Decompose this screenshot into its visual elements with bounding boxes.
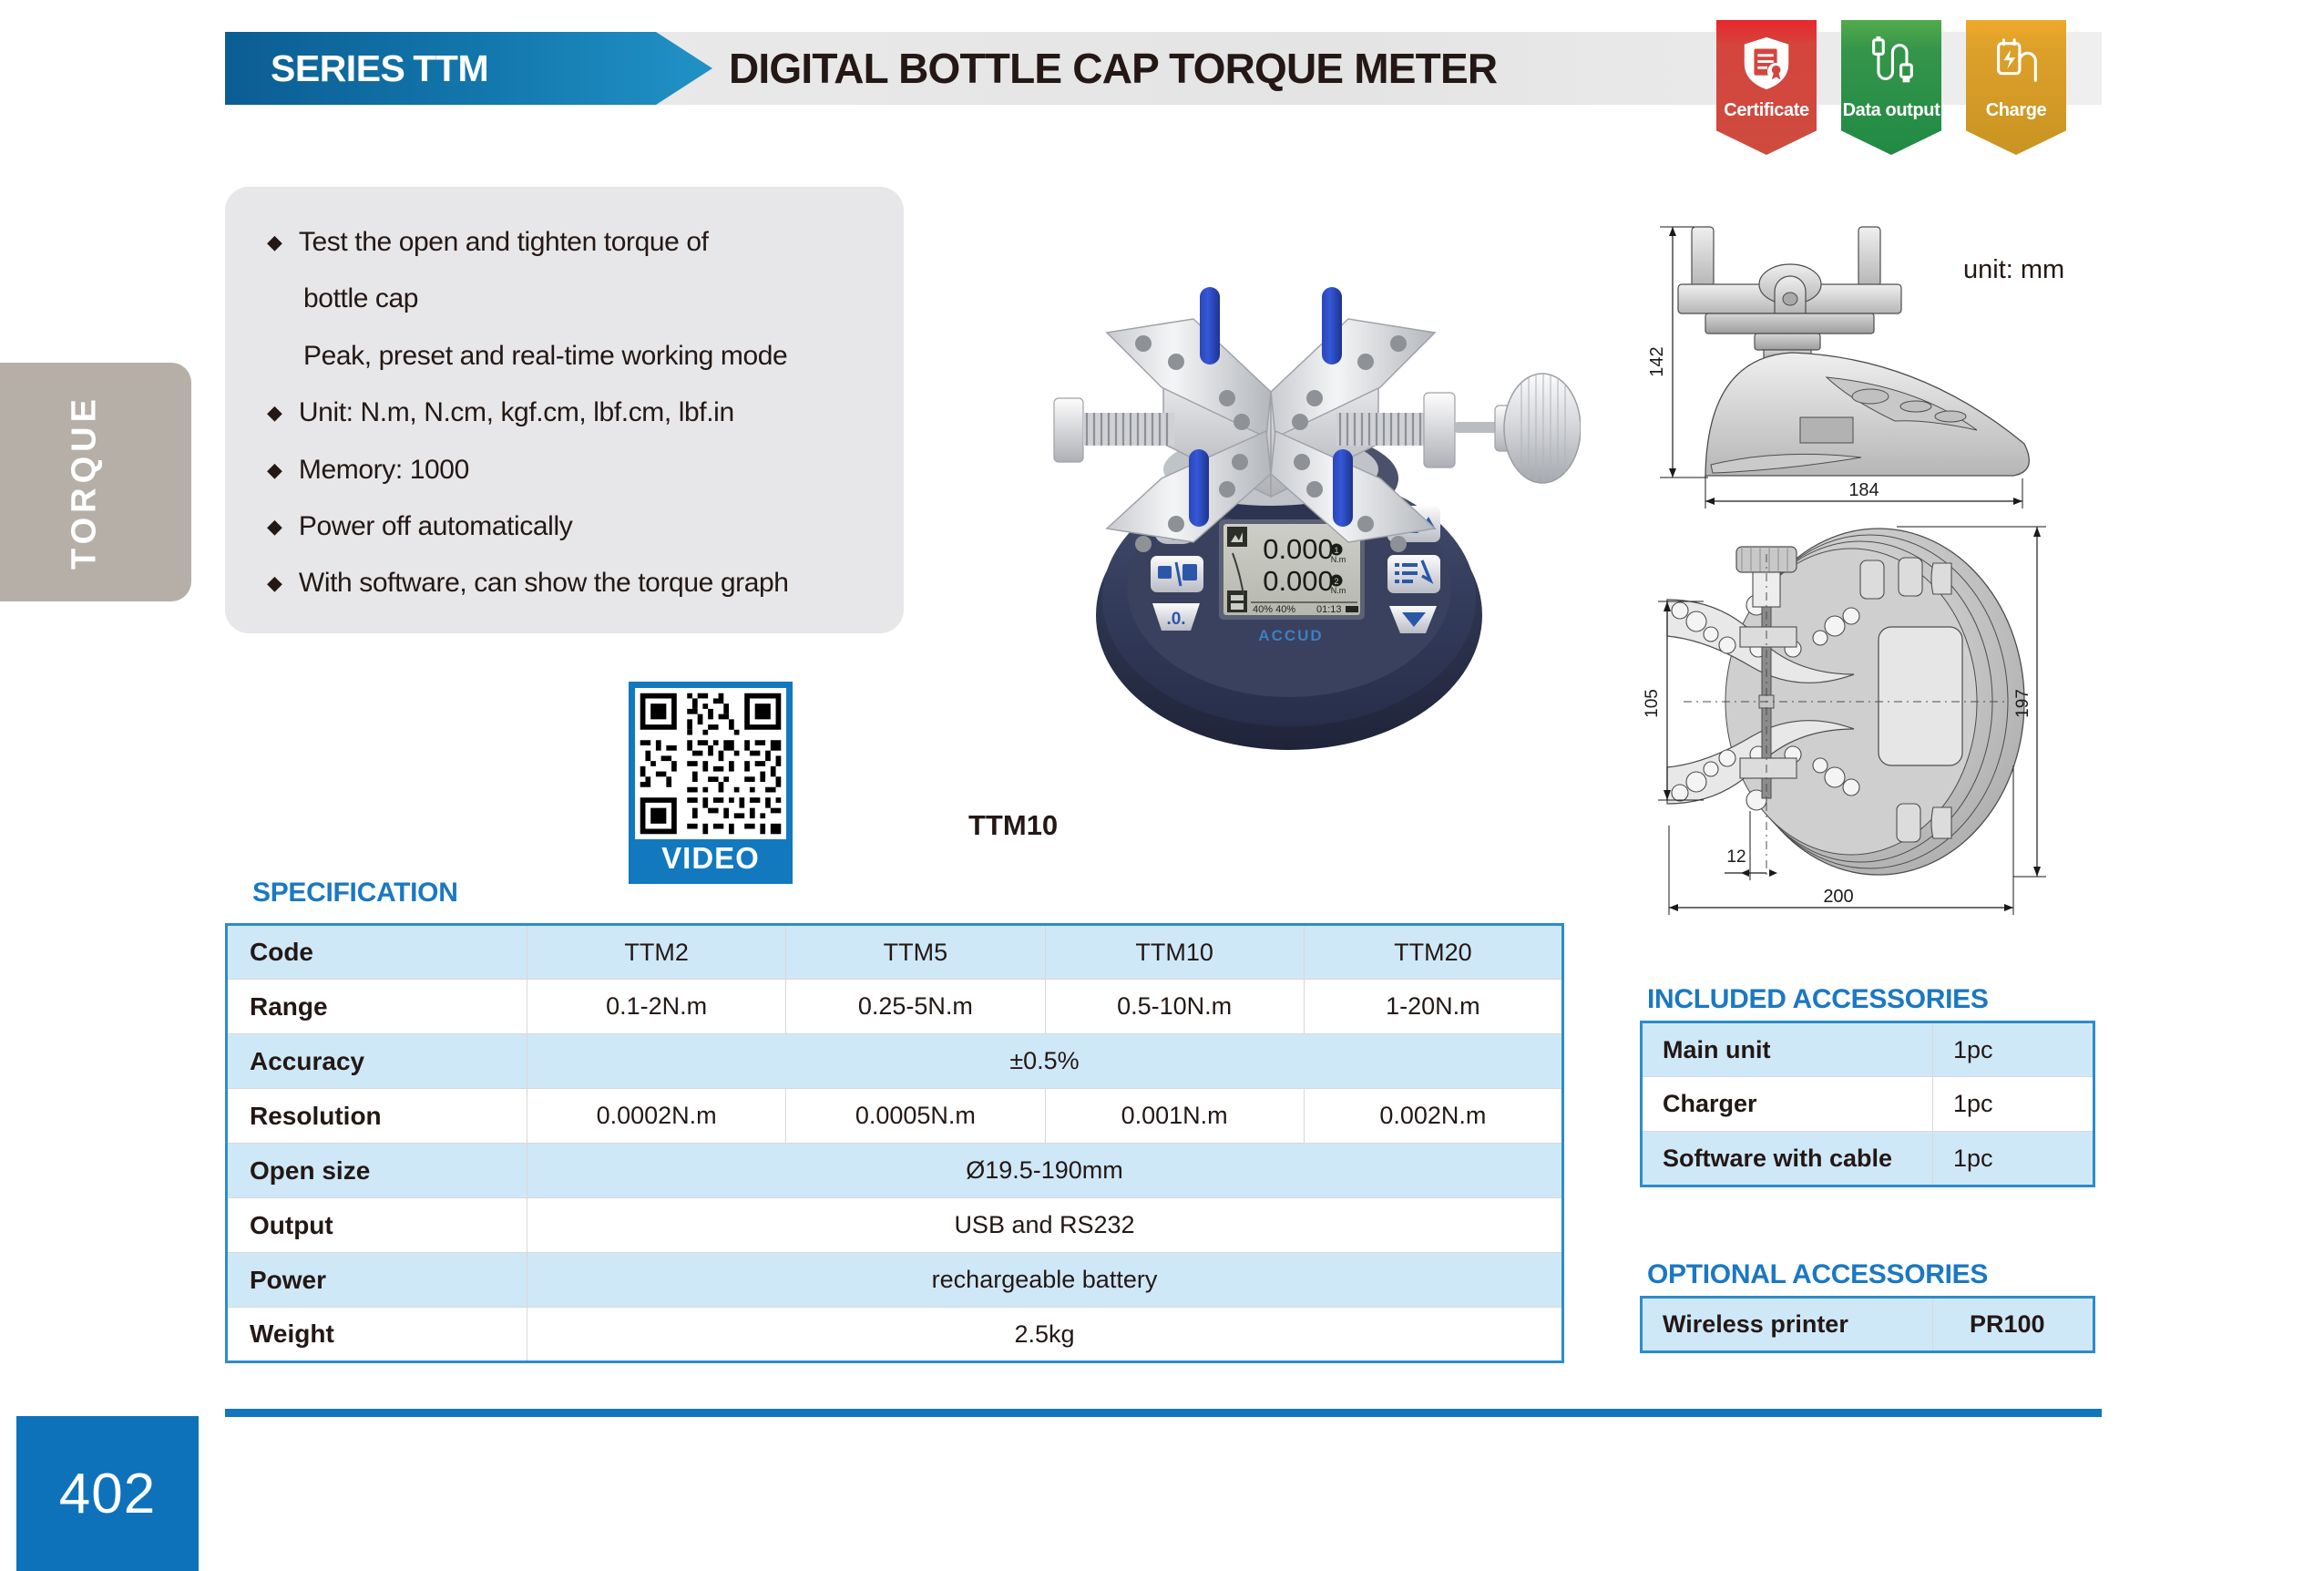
badge-data-output-shape (1841, 20, 1941, 155)
accessory-name: Wireless printer (1642, 1298, 1933, 1352)
included-accessories-heading: INCLUDED ACCESSORIES (1647, 984, 1989, 1015)
table-row: Power rechargeable battery (227, 1253, 1563, 1308)
certificate-icon (1738, 35, 1795, 91)
spec-label: Accuracy (227, 1034, 527, 1089)
svg-text:200: 200 (1823, 887, 1853, 907)
badge-data-output-label: Data output (1841, 100, 1941, 121)
table-row: Software with cable 1pc (1642, 1132, 2094, 1186)
diamond-bullet-icon: ◆ (267, 517, 282, 537)
svg-text:2: 2 (1334, 577, 1338, 586)
category-side-tab: TORQUE (0, 363, 191, 601)
feature-item-label: Memory: 1000 (299, 453, 469, 488)
table-row: Resolution 0.0002N.m 0.0005N.m 0.001N.m … (227, 1089, 1563, 1144)
battery-charge-icon (1988, 35, 2044, 91)
diamond-bullet-icon: ◆ (267, 232, 282, 252)
catalog-page: SERIESTTM DIGITAL BOTTLE CAP TORQUE METE… (0, 0, 2324, 1571)
footer-rule (225, 1409, 2102, 1417)
svg-text:197: 197 (2013, 689, 2032, 718)
badge-certificate-shape (1716, 20, 1817, 155)
spec-label: Weight (227, 1308, 527, 1362)
spec-value: 2.5kg (527, 1308, 1563, 1362)
qr-code-frame (629, 682, 793, 839)
spec-value: TTM5 (786, 925, 1045, 980)
feature-item: ◆ With software, can show the torque gra… (267, 566, 873, 601)
spec-value: TTM10 (1045, 925, 1304, 980)
product-model-label: TTM10 (968, 809, 1058, 842)
feature-item: ◆ Unit: N.m, N.cm, kgf.cm, lbf.cm, lbf.i… (267, 395, 873, 430)
specification-table: Code TTM2 TTM5 TTM10 TTM20 Range 0.1-2N.… (225, 923, 1564, 1363)
spec-value: 0.0005N.m (786, 1089, 1045, 1144)
series-label: SERIESTTM (225, 47, 488, 90)
svg-text:184: 184 (1848, 480, 1879, 500)
top-view-svg: 105 197 12 200 (1640, 510, 2132, 929)
feature-item-label: Test the open and tighten torque of (299, 225, 709, 260)
diamond-bullet-icon: ◆ (267, 403, 282, 423)
feature-item: ◆ Power off automatically (267, 509, 873, 544)
optional-accessories-table: Wireless printer PR100 (1640, 1296, 2095, 1353)
series-prefix: SERIES (271, 47, 404, 89)
dimension-drawing-top-view: 105 197 12 200 (1640, 510, 2132, 929)
feature-item-label: Unit: N.m, N.cm, kgf.cm, lbf.cm, lbf.in (299, 395, 734, 430)
spec-value: rechargeable battery (527, 1253, 1563, 1308)
table-row: Weight 2.5kg (227, 1308, 1563, 1362)
svg-text:0.000: 0.000 (1263, 533, 1334, 565)
page-number: 402 (59, 1462, 156, 1526)
spec-value: 0.1-2N.m (527, 980, 786, 1034)
specification-heading: SPECIFICATION (252, 878, 458, 909)
accessory-name: Software with cable (1642, 1132, 1933, 1186)
svg-text:N.m: N.m (1331, 586, 1346, 595)
svg-text:40% 40%: 40% 40% (1253, 604, 1295, 615)
optional-accessories-heading: OPTIONAL ACCESSORIES (1647, 1259, 1988, 1290)
video-label[interactable]: VIDEO (629, 839, 793, 884)
badge-charge: Charge (1966, 20, 2066, 155)
spec-value: 0.25-5N.m (786, 980, 1045, 1034)
table-row: Range 0.1-2N.m 0.25-5N.m 0.5-10N.m 1-20N… (227, 980, 1563, 1034)
svg-text:1: 1 (1334, 546, 1338, 555)
spec-value: 0.5-10N.m (1045, 980, 1304, 1034)
svg-text:N.m: N.m (1331, 555, 1346, 564)
svg-text:0.000: 0.000 (1263, 565, 1334, 597)
spec-label: Output (227, 1198, 527, 1253)
accessory-qty: 1pc (1933, 1022, 2094, 1077)
feature-badges: Certificate Data output (1716, 20, 2066, 155)
badge-charge-shape (1966, 20, 2066, 155)
table-row: Main unit 1pc (1642, 1022, 2094, 1077)
feature-item-label: With software, can show the torque graph (299, 566, 789, 601)
unit-note: unit: mm (1963, 255, 2064, 285)
svg-text:142: 142 (1647, 346, 1667, 376)
spec-value: ±0.5% (527, 1034, 1563, 1089)
svg-text:105: 105 (1643, 689, 1662, 718)
spec-value: 1-20N.m (1304, 980, 1562, 1034)
feature-item-continuation: Peak, preset and real-time working mode (303, 339, 873, 374)
badge-charge-label: Charge (1966, 100, 2066, 121)
diamond-bullet-icon: ◆ (267, 573, 282, 593)
table-row: Code TTM2 TTM5 TTM10 TTM20 (227, 925, 1563, 980)
spec-value: 0.001N.m (1045, 1089, 1304, 1144)
spec-label: Open size (227, 1144, 527, 1198)
torque-meter-illustration: 0.000 0.000 1 N.m 2 N.m 40% 40% 01:13 AC… (998, 205, 1581, 770)
feature-item-continuation: bottle cap (303, 282, 873, 316)
accessory-code: PR100 (1933, 1298, 2094, 1352)
series-chevron-banner: SERIESTTM (225, 32, 712, 105)
table-row: Open size Ø19.5-190mm (227, 1144, 1563, 1198)
table-row: Charger 1pc (1642, 1077, 2094, 1132)
spec-label: Code (227, 925, 527, 980)
table-row: Accuracy ±0.5% (227, 1034, 1563, 1089)
spec-label: Range (227, 980, 527, 1034)
usb-cable-icon (1863, 35, 1920, 91)
spec-value: Ø19.5-190mm (527, 1144, 1563, 1198)
accessory-qty: 1pc (1933, 1077, 2094, 1132)
table-row: Output USB and RS232 (227, 1198, 1563, 1253)
qr-code-icon (635, 688, 786, 839)
accessory-name: Charger (1642, 1077, 1933, 1132)
badge-certificate: Certificate (1716, 20, 1817, 155)
spec-value: 0.0002N.m (527, 1089, 786, 1144)
badge-certificate-label: Certificate (1716, 100, 1817, 121)
feature-item: ◆ Memory: 1000 (267, 453, 873, 488)
spec-value: TTM20 (1304, 925, 1562, 980)
table-row: Wireless printer PR100 (1642, 1298, 2094, 1352)
spec-value: TTM2 (527, 925, 786, 980)
accessory-name: Main unit (1642, 1022, 1933, 1077)
badge-data-output: Data output (1841, 20, 1941, 155)
video-qr-block[interactable]: VIDEO (629, 682, 793, 884)
svg-text:.0.: .0. (1166, 610, 1185, 629)
page-title: DIGITAL BOTTLE CAP TORQUE METER (729, 44, 1497, 93)
features-panel: ◆ Test the open and tighten torque of bo… (225, 187, 904, 633)
product-photo: 0.000 0.000 1 N.m 2 N.m 40% 40% 01:13 AC… (998, 205, 1581, 770)
series-code: TTM (413, 47, 488, 89)
included-accessories-table: Main unit 1pc Charger 1pc Software with … (1640, 1021, 2095, 1187)
spec-value: 0.002N.m (1304, 1089, 1562, 1144)
svg-text:01:13: 01:13 (1316, 604, 1342, 615)
feature-item-label: Power off automatically (299, 509, 572, 544)
accessory-qty: 1pc (1933, 1132, 2094, 1186)
page-number-box: 402 (16, 1416, 199, 1571)
diamond-bullet-icon: ◆ (267, 460, 282, 480)
category-side-tab-label: TORQUE (65, 395, 104, 570)
svg-text:ACCUD: ACCUD (1258, 627, 1323, 644)
spec-label: Resolution (227, 1089, 527, 1144)
spec-value: USB and RS232 (527, 1198, 1563, 1253)
feature-item: ◆ Test the open and tighten torque of (267, 225, 873, 260)
spec-label: Power (227, 1253, 527, 1308)
svg-text:12: 12 (1726, 847, 1746, 867)
